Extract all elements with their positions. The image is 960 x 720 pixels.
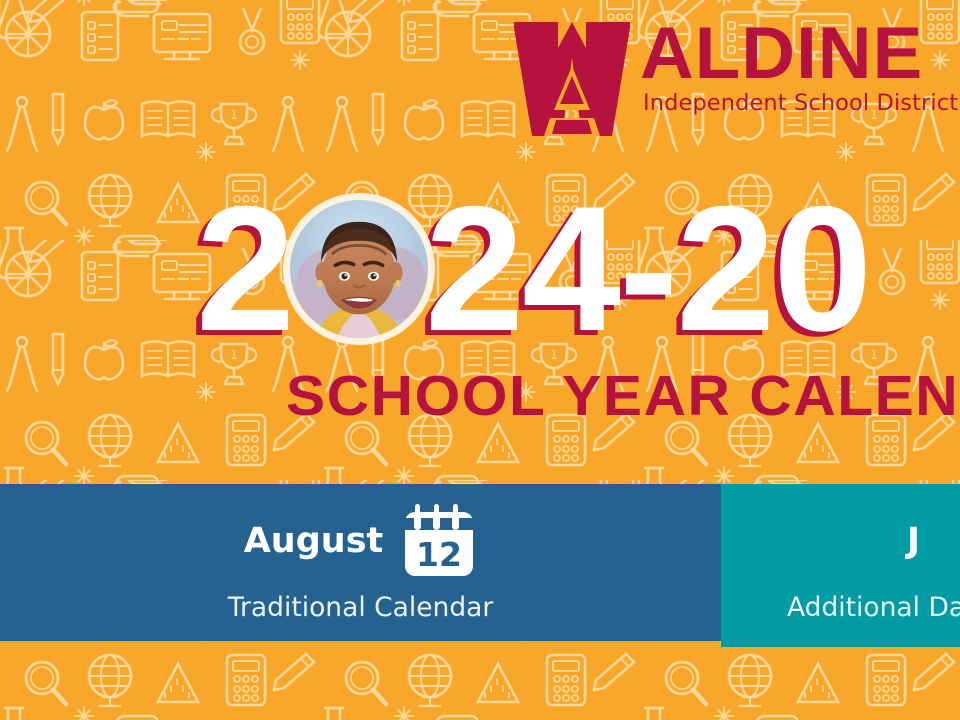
logo-wordmark: ALDINE xyxy=(640,20,923,87)
school-year-headline: 2 xyxy=(196,186,870,351)
year-prefix: 2 xyxy=(196,186,293,351)
aldine-a-mark-icon xyxy=(508,18,636,138)
additional-start-row: J xyxy=(721,506,960,576)
aldine-isd-logo: ALDINE Independent School District xyxy=(508,18,948,140)
additional-days-caption: Additional Da xyxy=(721,592,960,624)
logo-tagline: Independent School District xyxy=(643,92,958,115)
calendar-poster: 1 xyxy=(0,0,960,720)
student-portrait-photo xyxy=(283,193,435,345)
traditional-start-row: August 12 xyxy=(0,506,721,576)
calendar-day-icon: 12 xyxy=(401,504,477,578)
calendar-day-number: 12 xyxy=(416,535,462,574)
traditional-calendar-panel[interactable]: August 12 Traditional Calendar xyxy=(0,484,721,641)
traditional-month-label: August xyxy=(244,520,384,562)
calendar-type-banner: August 12 Traditional Calendar xyxy=(0,484,960,647)
traditional-calendar-caption: Traditional Calendar xyxy=(0,592,721,624)
page-title: SCHOOL YEAR CALEN xyxy=(286,365,959,427)
additional-days-panel[interactable]: J Additional Da xyxy=(721,484,960,647)
year-suffix: 24-20 xyxy=(425,186,870,351)
additional-month-label: J xyxy=(907,520,920,562)
